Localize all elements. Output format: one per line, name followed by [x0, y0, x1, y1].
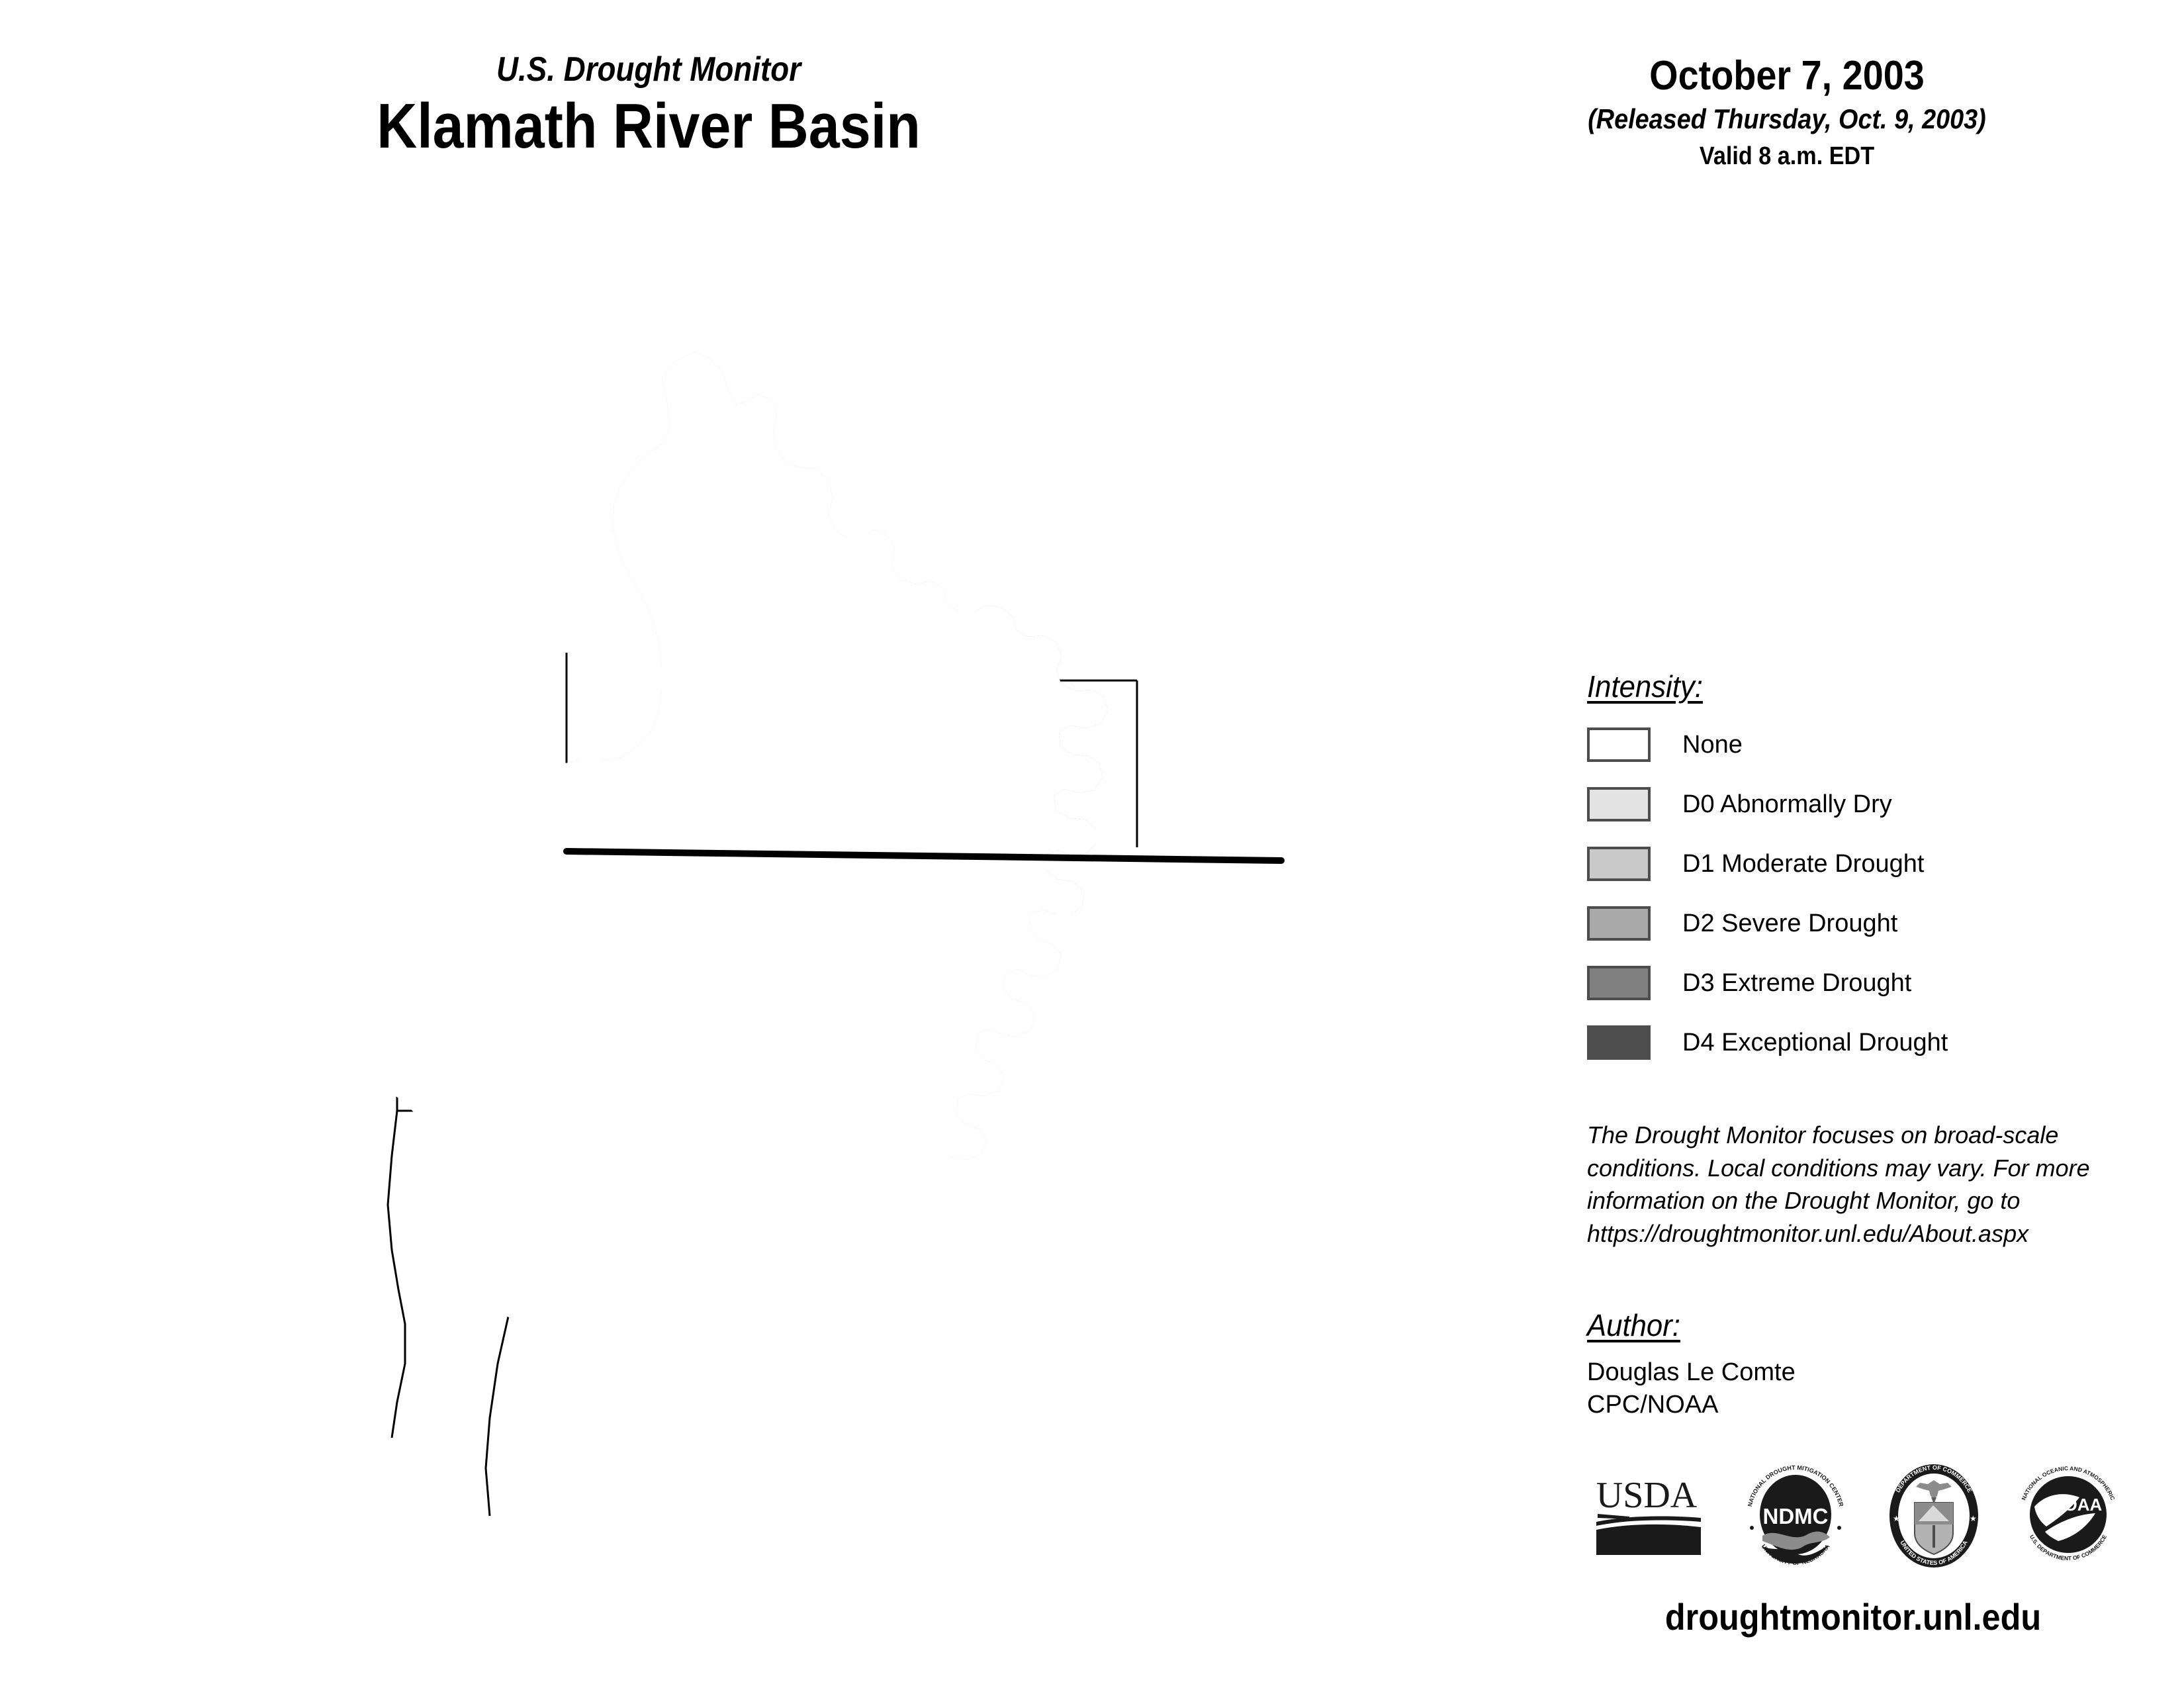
- disclaimer-text: The Drought Monitor focuses on broad-sca…: [1587, 1119, 2156, 1250]
- usda-logo-text: USDA: [1596, 1475, 1698, 1516]
- doc-seal: DEPARTMENT OF COMMERCE UNITED STATES OF …: [1884, 1462, 1983, 1571]
- logo-row: USDA NDMC NATIONAL DROUGHT MITIGATION CE…: [1588, 1456, 2118, 1575]
- title-block: U.S. Drought Monitor Klamath River Basin: [218, 52, 1079, 160]
- author-affiliation: CPC/NOAA: [1587, 1389, 2116, 1421]
- doc-star-left: ★: [1893, 1514, 1900, 1523]
- footer-url[interactable]: droughtmonitor.unl.edu: [1573, 1595, 2133, 1638]
- legend-swatch-none: [1587, 727, 1651, 762]
- doc-star-right: ★: [1970, 1514, 1977, 1523]
- legend: Intensity: None D0 Abnormally Dry D1 Mod…: [1587, 669, 2103, 1079]
- legend-label-none: None: [1682, 731, 1743, 759]
- basin-outline: [293, 352, 1108, 1617]
- usda-logo: USDA: [1588, 1466, 1707, 1566]
- page-subtitle: U.S. Drought Monitor: [270, 52, 1027, 88]
- author-name: Douglas Le Comte: [1587, 1356, 2116, 1389]
- legend-item-d1[interactable]: D1 Moderate Drought: [1587, 841, 2103, 887]
- legend-label-d3: D3 Extreme Drought: [1682, 969, 1911, 998]
- noaa-logo: NOAA NATIONAL OCEANIC AND ATMOSPHERIC U.…: [2019, 1463, 2118, 1569]
- page-title: Klamath River Basin: [270, 92, 1027, 161]
- legend-item-d2[interactable]: D2 Severe Drought: [1587, 900, 2103, 947]
- legend-item-d0[interactable]: D0 Abnormally Dry: [1587, 781, 2103, 827]
- ndmc-logo-text: NDMC: [1763, 1504, 1829, 1528]
- legend-swatch-d4: [1587, 1025, 1651, 1060]
- legend-item-none[interactable]: None: [1587, 722, 2103, 768]
- legend-swatch-d2: [1587, 906, 1651, 941]
- legend-item-d4[interactable]: D4 Exceptional Drought: [1587, 1019, 2103, 1066]
- legend-heading: Intensity:: [1587, 669, 1703, 704]
- basin-geometry: [199, 331, 1281, 1628]
- legend-swatch-d3: [1587, 966, 1651, 1000]
- noaa-logo-text: NOAA: [2052, 1495, 2103, 1515]
- legend-label-d0: D0 Abnormally Dry: [1682, 790, 1892, 819]
- legend-swatch-d0: [1587, 787, 1651, 821]
- map-svg: [199, 331, 1390, 1628]
- release-date: (Released Thursday, Oct. 9, 2003): [1495, 104, 2079, 134]
- legend-swatch-d1: [1587, 847, 1651, 881]
- date-block: October 7, 2003 (Released Thursday, Oct.…: [1463, 54, 2111, 171]
- author-heading: Author:: [1587, 1307, 1680, 1343]
- valid-time: Valid 8 a.m. EDT: [1495, 142, 2079, 171]
- legend-label-d2: D2 Severe Drought: [1682, 910, 1897, 938]
- legend-item-d3[interactable]: D3 Extreme Drought: [1587, 960, 2103, 1006]
- valid-date: October 7, 2003: [1495, 54, 2079, 99]
- legend-label-d4: D4 Exceptional Drought: [1682, 1029, 1948, 1057]
- drought-map: [199, 331, 1390, 1628]
- author-block: Author: Douglas Le Comte CPC/NOAA: [1587, 1307, 2116, 1421]
- legend-label-d1: D1 Moderate Drought: [1682, 850, 1924, 878]
- ndmc-logo: NDMC NATIONAL DROUGHT MITIGATION CENTER …: [1743, 1463, 1848, 1569]
